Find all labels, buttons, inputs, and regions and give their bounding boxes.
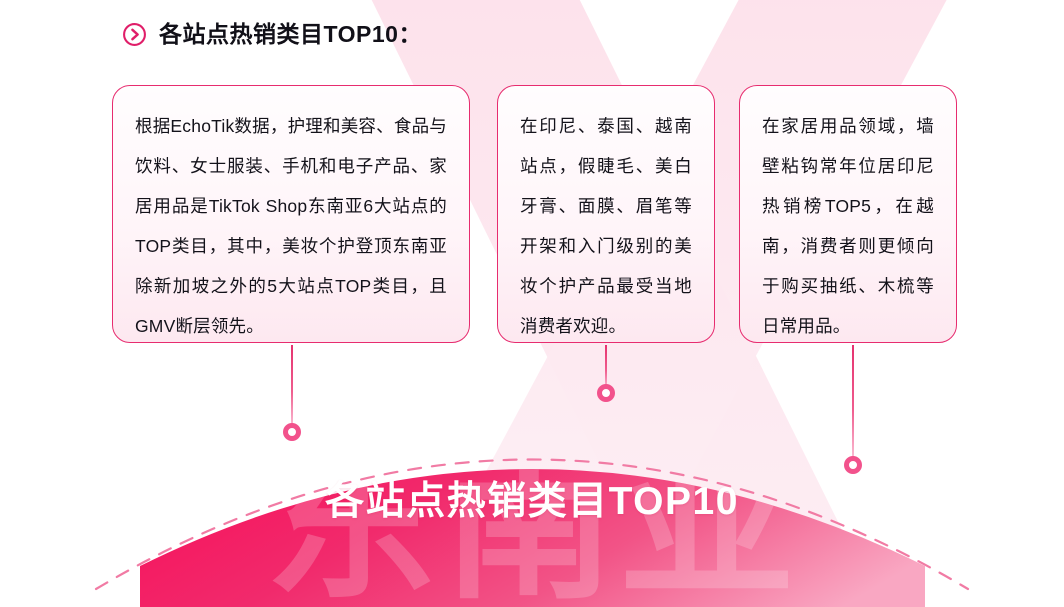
dashed-arc [96, 460, 968, 590]
insight-card-1-text: 根据EchoTik数据，护理和美容、食品与饮料、女士服装、手机和电子产品、家居用… [135, 106, 447, 346]
insight-card-2-text: 在印尼、泰国、越南站点，假睫毛、美白牙膏、面膜、眉笔等开架和入门级别的美妆个护产… [520, 106, 692, 346]
arc-node-dot-3 [844, 456, 862, 474]
insight-card-2: 在印尼、泰国、越南站点，假睫毛、美白牙膏、面膜、眉笔等开架和入门级别的美妆个护产… [497, 85, 715, 343]
insight-card-1: 根据EchoTik数据，护理和美容、食品与饮料、女士服装、手机和电子产品、家居用… [112, 85, 470, 343]
connector-line-3 [852, 345, 854, 462]
banner-title: 各站点热销类目TOP10 [0, 482, 1064, 521]
insight-card-3: 在家居用品领域，墙壁粘钩常年位居印尼热销榜TOP5，在越南，消费者则更倾向于购买… [739, 85, 957, 343]
chevron-right-circle-icon [122, 22, 147, 47]
insight-card-3-text: 在家居用品领域，墙壁粘钩常年位居印尼热销榜TOP5，在越南，消费者则更倾向于购买… [762, 106, 934, 346]
section-heading-text: 各站点热销类目TOP10： [159, 23, 422, 46]
infographic-slide: 各站点热销类目TOP10： 根据EchoTik数据，护理和美容、食品与饮料、女士… [0, 0, 1064, 607]
section-heading: 各站点热销类目TOP10： [122, 22, 422, 47]
arc-node-dot-1 [283, 423, 301, 441]
connector-line-1 [291, 345, 293, 429]
arc-node-dot-2 [597, 384, 615, 402]
